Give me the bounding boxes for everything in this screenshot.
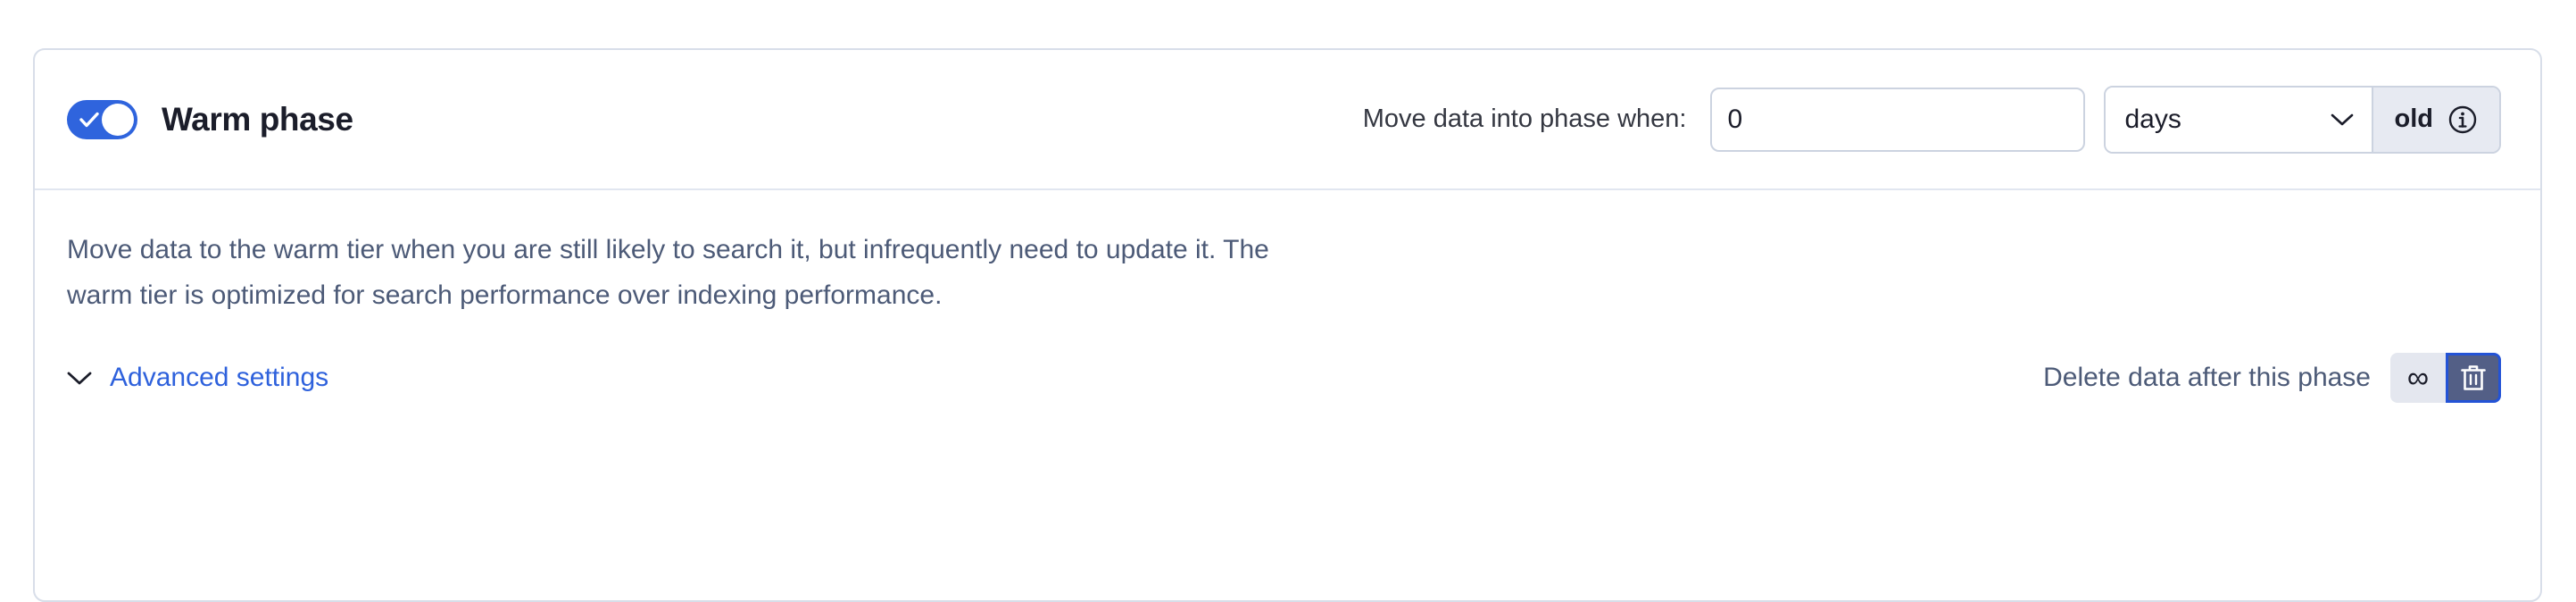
phase-description: Move data to the warm tier when you are … <box>67 227 1334 318</box>
trash-icon <box>2460 364 2487 392</box>
warm-phase-toggle[interactable] <box>67 100 137 139</box>
header-right: Move data into phase when: days old <box>1363 86 2501 154</box>
infinity-icon: ∞ <box>2407 363 2429 393</box>
unit-append: old <box>2372 88 2500 152</box>
delete-data-group: Delete data after this phase ∞ <box>2043 353 2501 403</box>
chevron-down-icon <box>67 371 92 386</box>
warm-phase-card: Warm phase Move data into phase when: da… <box>33 48 2542 602</box>
advanced-settings-toggle[interactable]: Advanced settings <box>67 363 328 393</box>
delete-data-label: Delete data after this phase <box>2043 363 2371 393</box>
page-title: Warm phase <box>162 101 353 138</box>
advanced-settings-label: Advanced settings <box>110 363 328 393</box>
card-footer: Advanced settings Delete data after this… <box>67 353 2501 403</box>
info-icon[interactable] <box>2447 105 2478 135</box>
card-header: Warm phase Move data into phase when: da… <box>35 50 2540 190</box>
delete-data-button-group: ∞ <box>2390 353 2501 403</box>
unit-control-group: days old <box>2104 86 2502 154</box>
toggle-knob <box>102 104 134 136</box>
move-data-label: Move data into phase when: <box>1363 105 1687 134</box>
card-body: Move data to the warm tier when you are … <box>35 190 2540 403</box>
min-age-input[interactable] <box>1710 88 2085 152</box>
unit-select[interactable]: days <box>2106 88 2372 152</box>
keep-data-forever-button[interactable]: ∞ <box>2390 353 2446 403</box>
check-icon <box>79 111 99 129</box>
chevron-down-icon <box>2331 113 2354 127</box>
screen: Warm phase Move data into phase when: da… <box>0 0 2576 531</box>
delete-data-button[interactable] <box>2446 353 2501 403</box>
header-left: Warm phase <box>67 100 353 139</box>
unit-select-value: days <box>2125 105 2181 135</box>
unit-append-label: old <box>2395 105 2434 134</box>
